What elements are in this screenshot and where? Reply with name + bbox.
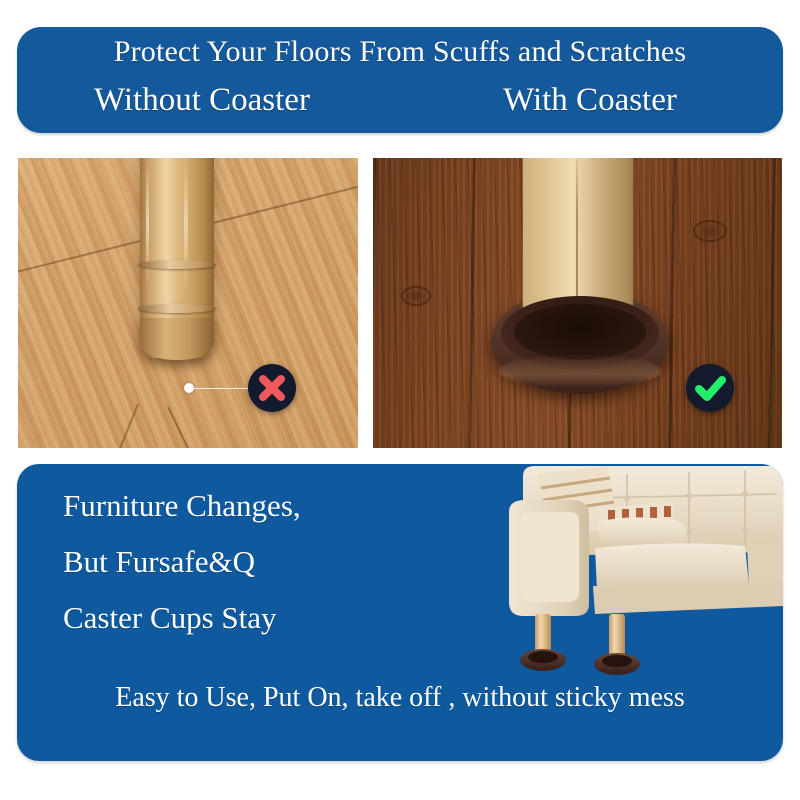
leg-turning-ring — [138, 260, 216, 269]
scratch-pointer-line — [194, 388, 250, 390]
product-marketing-image: Protect Your Floors From Scuffs and Scra… — [0, 0, 800, 800]
header-banner: Protect Your Floors From Scuffs and Scra… — [17, 27, 783, 133]
comparison-labels: Without Coaster With Coaster — [17, 82, 783, 130]
promo-banner: Furniture Changes, But Fursafe&Q Caster … — [17, 464, 783, 761]
leg-turning-ring — [138, 304, 216, 313]
caster-cup-left-well — [528, 651, 558, 663]
status-badge-positive — [686, 364, 734, 412]
check-icon — [686, 364, 734, 412]
cross-icon — [248, 364, 296, 412]
promo-line-3: Caster Cups Stay — [63, 590, 483, 646]
photo-without-coaster — [18, 158, 358, 448]
caster-cup-right-well — [602, 655, 632, 667]
scratch-pointer-dot — [184, 383, 194, 393]
sofa-illustration — [477, 464, 783, 692]
wood-knot — [401, 286, 431, 306]
sofa-arm-inner — [521, 512, 579, 602]
leg-foot — [140, 318, 214, 360]
label-with-coaster: With Coaster — [397, 82, 783, 119]
page-title: Protect Your Floors From Scuffs and Scra… — [17, 35, 783, 69]
wood-knot — [693, 220, 727, 242]
sofa-base — [593, 582, 783, 614]
promo-heading-block: Furniture Changes, But Fursafe&Q Caster … — [63, 478, 483, 646]
sofa-product-image — [477, 464, 783, 692]
promo-tagline: Easy to Use, Put On, take off , without … — [17, 682, 783, 714]
status-badge-negative — [248, 364, 296, 412]
caster-cup-highlight — [499, 354, 661, 388]
caster-cup-interior — [514, 304, 646, 360]
promo-line-2: But Fursafe&Q — [63, 534, 483, 590]
label-without-coaster: Without Coaster — [17, 82, 387, 119]
seat-cushion-right — [747, 542, 783, 588]
promo-line-1: Furniture Changes, — [63, 478, 483, 534]
